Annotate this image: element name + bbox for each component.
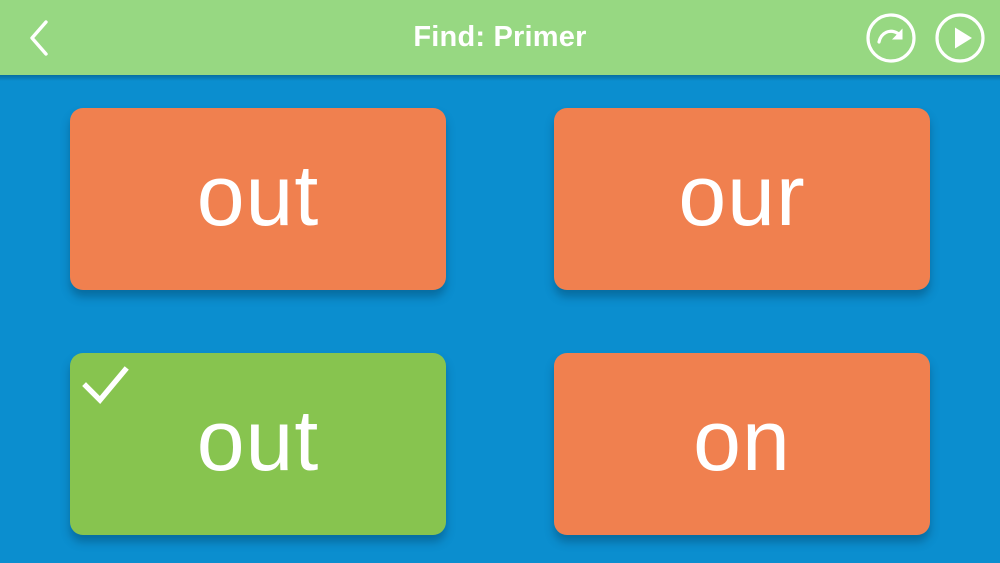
word-card[interactable]: out (70, 353, 446, 535)
play-button[interactable] (934, 12, 986, 64)
repeat-icon (865, 12, 917, 64)
word-card-grid: out our out on (0, 75, 1000, 563)
word-card-label: out (70, 353, 446, 535)
play-icon (934, 12, 986, 64)
word-card[interactable]: out (70, 108, 446, 290)
header-shadow (0, 75, 1000, 81)
chevron-left-icon (25, 18, 53, 58)
word-card-label: on (554, 353, 930, 535)
app-header: Find: Primer (0, 0, 1000, 75)
word-card[interactable]: our (554, 108, 930, 290)
back-button[interactable] (8, 0, 70, 75)
word-card-label: out (70, 108, 446, 290)
word-card[interactable]: on (554, 353, 930, 535)
page-title: Find: Primer (0, 0, 1000, 75)
header-actions (865, 0, 986, 75)
repeat-button[interactable] (865, 12, 917, 64)
app-root: Find: Primer (0, 0, 1000, 563)
word-card-label: our (554, 108, 930, 290)
